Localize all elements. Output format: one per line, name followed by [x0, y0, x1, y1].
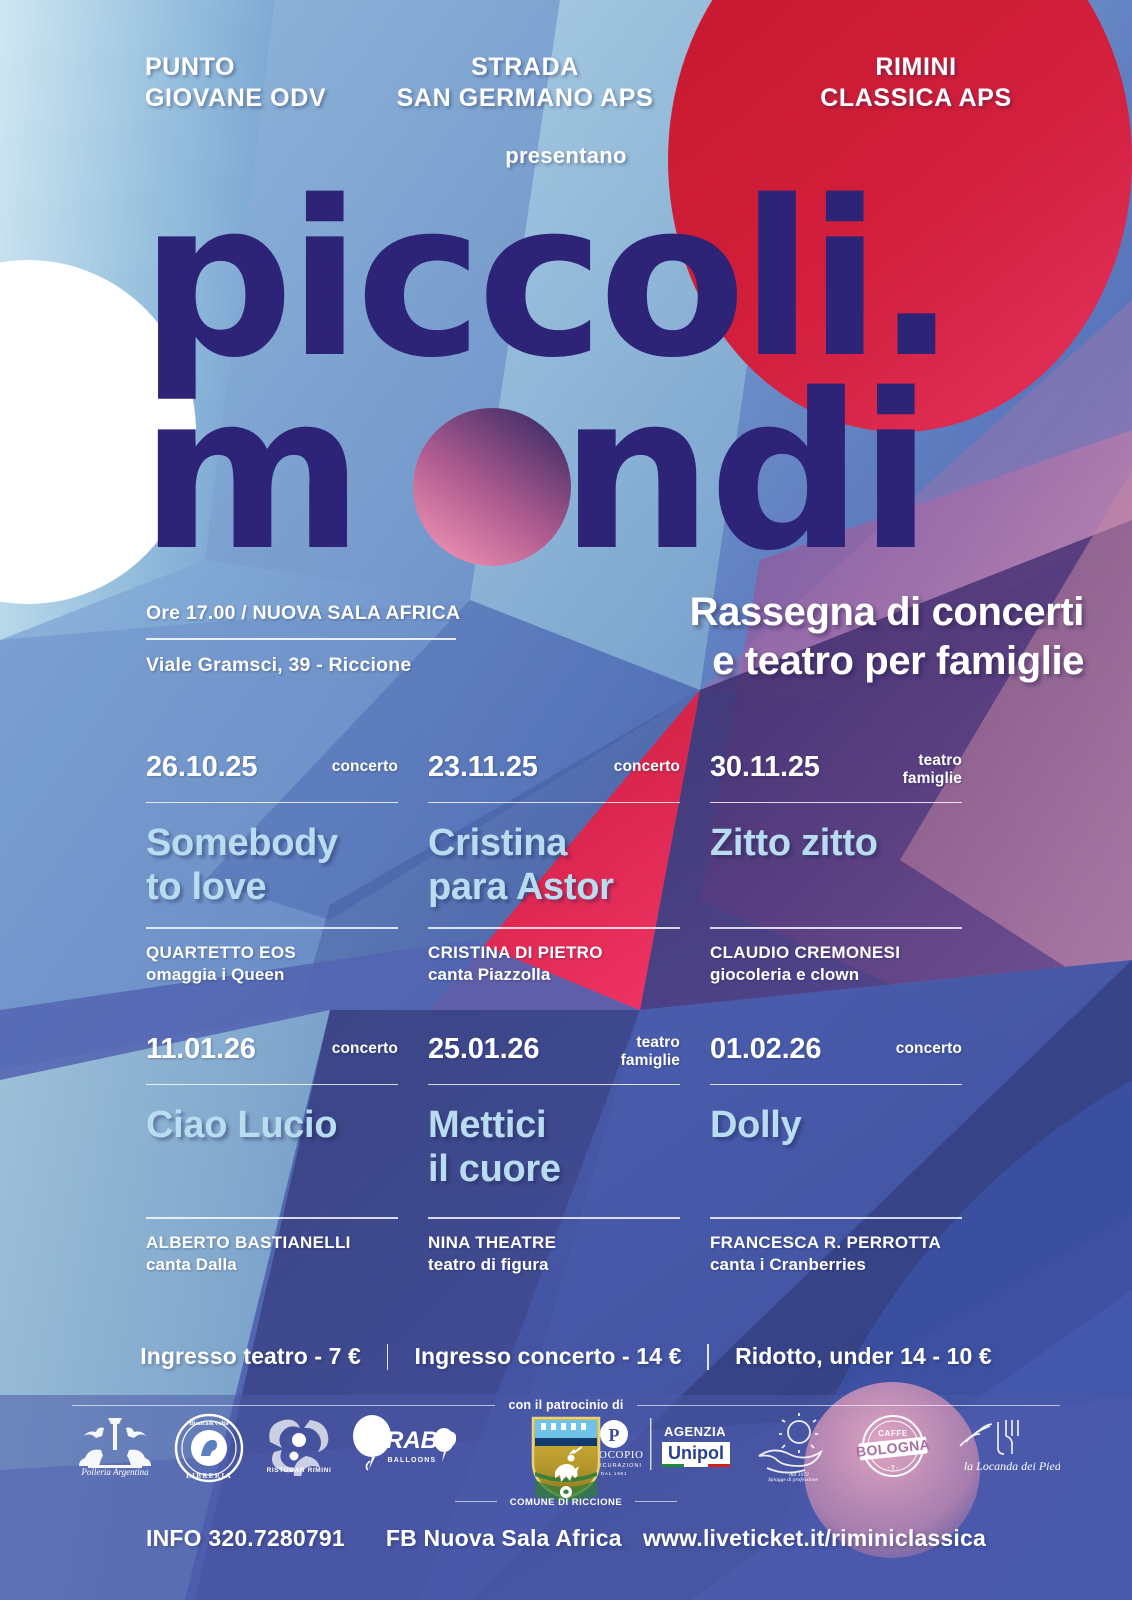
patronage-line-right: [637, 1405, 1060, 1406]
event-title-line2: to love: [146, 865, 398, 909]
event-detail: canta Dalla: [146, 1254, 398, 1276]
event-kind: concerto: [614, 752, 680, 776]
organizer-1-line2: GIOVANE ODV: [145, 83, 330, 114]
event-detail: canta i Cranberries: [710, 1254, 962, 1276]
event-performer: CLAUDIO CREMONESI: [710, 942, 962, 964]
circular-badge-icon: Bianca&Volta LIBRERIA: [173, 1412, 245, 1484]
sponsor-spiagge-di-professione[interactable]: dal 1972 Spiagge di professione: [749, 1412, 835, 1504]
footer-row: INFO 320.7280791 FB Nuova Sala Africa ww…: [0, 1525, 1132, 1552]
sponsor-ristobar-rimini[interactable]: RISTOBAR RIMINI: [260, 1412, 338, 1504]
event-date: 30.11.25: [710, 752, 820, 782]
price-concert: Ingresso concerto - 14 €: [414, 1343, 681, 1370]
event-divider-top: [428, 802, 680, 803]
event-card[interactable]: 30.11.25 teatro famiglie Zitto zitto CLA…: [710, 752, 962, 986]
svg-text:Unipol: Unipol: [668, 1443, 724, 1463]
event-divider-bottom: [428, 927, 680, 928]
event-date: 01.02.26: [710, 1034, 821, 1064]
event-kind-line1: teatro: [621, 1034, 680, 1052]
event-performer: ALBERTO BASTIANELLI: [146, 1232, 398, 1254]
organizer-2-line1: STRADA: [330, 52, 720, 83]
event-divider-bottom: [146, 927, 398, 928]
organizer-2: STRADA SAN GERMANO APS: [330, 52, 720, 113]
footer-facebook[interactable]: FB Nuova Sala Africa: [386, 1525, 643, 1552]
venue-divider: [146, 638, 456, 640]
organizers-row: PUNTO GIOVANE ODV STRADA SAN GERMANO APS…: [0, 52, 1132, 113]
event-divider-top: [710, 1084, 962, 1085]
event-divider-top: [146, 1084, 398, 1085]
event-kind: concerto: [332, 752, 398, 776]
event-performer: NINA THEATRE: [428, 1232, 680, 1254]
event-title-line2: para Astor: [428, 865, 680, 909]
event-kind-line1: concerto: [332, 1040, 398, 1058]
event-header: 11.01.26 concerto: [146, 1034, 398, 1080]
comune-riccione-crest-icon: [529, 1414, 603, 1502]
organizer-3-line2: CLASSICA APS: [720, 83, 1112, 114]
event-performer: CRISTINA DI PIETRO: [428, 942, 680, 964]
event-kind-line2: famiglie: [621, 1052, 680, 1070]
event-kind-line2: famiglie: [903, 770, 962, 788]
venue-block: Ore 17.00 / NUOVA SALA AFRICA Viale Gram…: [146, 602, 476, 677]
event-card[interactable]: 11.01.26 concerto Ciao Lucio ALBERTO BAS…: [146, 1034, 398, 1276]
event-performer-block: CRISTINA DI PIETRO canta Piazzolla: [428, 942, 680, 986]
event-header: 30.11.25 teatro famiglie: [710, 752, 962, 798]
patronage-line-left: [72, 1405, 495, 1406]
event-performer-block: FRANCESCA R. PERROTTA canta i Cranberrie…: [710, 1232, 962, 1276]
svg-text:RISTOBAR RIMINI: RISTOBAR RIMINI: [266, 1467, 331, 1474]
event-kind: teatro famiglie: [621, 1034, 680, 1071]
event-title: Dolly: [710, 1103, 962, 1207]
event-card[interactable]: 01.02.26 concerto Dolly FRANCESCA R. PER…: [710, 1034, 962, 1276]
event-performer: QUARTETTO EOS: [146, 942, 398, 964]
sponsor-procopio-unipol[interactable]: P PROCOPIO ASSICURAZIONI DAL 1961 AGENZI…: [582, 1412, 734, 1504]
organizer-1-line1: PUNTO: [145, 52, 330, 83]
event-detail: teatro di figura: [428, 1254, 680, 1276]
fork-wheat-icon: la Locanda dei Piedi: [952, 1412, 1060, 1478]
event-title: Somebody to love: [146, 821, 398, 917]
event-detail: omaggia i Queen: [146, 964, 398, 986]
event-title-line1: Mettici: [428, 1103, 680, 1147]
event-card[interactable]: 26.10.25 concerto Somebody to love QUART…: [146, 752, 398, 986]
event-divider-top: [146, 802, 398, 803]
event-detail: giocoleria e clown: [710, 964, 962, 986]
event-date: 23.11.25: [428, 752, 538, 782]
event-title: Mettici il cuore: [428, 1103, 680, 1207]
event-kind: teatro famiglie: [903, 752, 962, 789]
sponsor-polleria-argentina[interactable]: Polleria Argentina: [72, 1412, 158, 1504]
event-title-line1: Cristina: [428, 821, 680, 865]
event-performer: FRANCESCA R. PERROTTA: [710, 1232, 962, 1254]
event-performer-block: ALBERTO BASTIANELLI canta Dalla: [146, 1232, 398, 1276]
organizer-2-line2: SAN GERMANO APS: [330, 83, 720, 114]
sun-wave-icon: dal 1972 Spiagge di professione: [749, 1412, 835, 1482]
events-grid: 26.10.25 concerto Somebody to love QUART…: [146, 752, 992, 1276]
event-kind-line1: concerto: [614, 758, 680, 776]
event-performer-block: CLAUDIO CREMONESI giocoleria e clown: [710, 942, 962, 986]
event-kind-line1: teatro: [903, 752, 962, 770]
coffee-badge-icon: CAFFE BOLOGNA - T -: [849, 1412, 937, 1482]
svg-text:DAL 1961: DAL 1961: [601, 1471, 627, 1476]
organizer-1: PUNTO GIOVANE ODV: [0, 52, 330, 113]
event-divider-top: [428, 1084, 680, 1085]
patronage-label: con il patrocinio di: [495, 1398, 636, 1412]
swirl-icon: RISTOBAR RIMINI: [260, 1412, 338, 1476]
price-theatre: Ingresso teatro - 7 €: [140, 1343, 361, 1370]
prices-row: Ingresso teatro - 7 € Ingresso concerto …: [0, 1343, 1132, 1370]
price-reduced: Ridotto, under 14 - 10 €: [735, 1343, 992, 1370]
sponsor-grabo-balloons[interactable]: RABO BALLOONS: [352, 1412, 456, 1504]
event-header: 26.10.25 concerto: [146, 752, 398, 798]
footer-website[interactable]: www.liveticket.it/riminiclassica: [643, 1525, 986, 1552]
svg-text:Polleria Argentina: Polleria Argentina: [80, 1467, 149, 1477]
poster-root: PUNTO GIOVANE ODV STRADA SAN GERMANO APS…: [0, 0, 1132, 1600]
event-title: Cristina para Astor: [428, 821, 680, 917]
svg-text:AGENZIA: AGENZIA: [664, 1424, 726, 1439]
svg-text:LIBRERIA: LIBRERIA: [186, 1472, 232, 1480]
rooster-crest-icon: Polleria Argentina: [72, 1412, 158, 1478]
svg-text:BALLOONS: BALLOONS: [388, 1457, 437, 1464]
event-divider-bottom: [710, 1217, 962, 1218]
sponsor-caffe-bologna[interactable]: CAFFE BOLOGNA - T -: [849, 1412, 937, 1504]
event-title-line1: Somebody: [146, 821, 398, 865]
event-title-line1: Dolly: [710, 1103, 962, 1147]
event-performer-block: QUARTETTO EOS omaggia i Queen: [146, 942, 398, 986]
event-detail: canta Piazzolla: [428, 964, 680, 986]
event-divider-bottom: [428, 1217, 680, 1218]
svg-text:Bianca&Volta: Bianca&Volta: [189, 1420, 229, 1427]
insurance-icon: P PROCOPIO ASSICURAZIONI DAL 1961 AGENZI…: [582, 1412, 734, 1482]
svg-text:- T -: - T -: [888, 1466, 899, 1472]
event-date: 11.01.26: [146, 1034, 256, 1064]
comune-rule-right: [635, 1501, 677, 1502]
event-title-line1: Ciao Lucio: [146, 1103, 398, 1147]
svg-text:Spiagge di professione: Spiagge di professione: [768, 1476, 818, 1482]
event-title-line1: Zitto zitto: [710, 821, 962, 865]
tagline-line-2: e teatro per famiglie: [690, 637, 1084, 686]
comune-caption: COMUNE DI RICCIONE: [0, 1497, 1132, 1508]
venue-address: Viale Gramsci, 39 - Riccione: [146, 654, 476, 677]
event-date: 26.10.25: [146, 752, 257, 782]
poster-tagline: Rassegna di concerti e teatro per famigl…: [690, 588, 1084, 686]
svg-text:P: P: [608, 1425, 619, 1445]
event-card[interactable]: 25.01.26 teatro famiglie Mettici il cuor…: [428, 1034, 680, 1276]
event-divider-bottom: [146, 1217, 398, 1218]
svg-text:CAFFE: CAFFE: [878, 1429, 908, 1438]
event-header: 25.01.26 teatro famiglie: [428, 1034, 680, 1080]
price-separator: [707, 1344, 709, 1370]
event-header: 01.02.26 concerto: [710, 1034, 962, 1080]
event-title: Zitto zitto: [710, 821, 962, 917]
sponsor-bianca-volta-libreria[interactable]: Bianca&Volta LIBRERIA: [173, 1412, 245, 1504]
patronage-rule: con il patrocinio di: [0, 1398, 1132, 1412]
presentano-label: presentano: [0, 143, 1132, 169]
balloon-icon: RABO BALLOONS: [352, 1412, 456, 1474]
event-performer-block: NINA THEATRE teatro di figura: [428, 1232, 680, 1276]
event-kind-line1: concerto: [332, 758, 398, 776]
event-divider-bottom: [710, 927, 962, 928]
sponsor-la-locanda-dei-piedi[interactable]: la Locanda dei Piedi: [952, 1412, 1060, 1504]
event-kind-line1: concerto: [896, 1040, 962, 1058]
tagline-line-1: Rassegna di concerti: [690, 588, 1084, 637]
organizer-3-line1: RIMINI: [720, 52, 1112, 83]
event-divider-top: [710, 802, 962, 803]
event-kind: concerto: [896, 1034, 962, 1058]
event-title-line2: il cuore: [428, 1147, 680, 1191]
svg-text:la Locanda dei Piedi: la Locanda dei Piedi: [964, 1459, 1060, 1473]
venue-time-hall: Ore 17.00 / NUOVA SALA AFRICA: [146, 602, 476, 625]
event-header: 23.11.25 concerto: [428, 752, 680, 798]
event-title: Ciao Lucio: [146, 1103, 398, 1207]
event-date: 25.01.26: [428, 1034, 539, 1064]
price-separator: [387, 1344, 389, 1370]
event-card[interactable]: 23.11.25 concerto Cristina para Astor CR…: [428, 752, 680, 986]
organizer-3: RIMINI CLASSICA APS: [720, 52, 1132, 113]
event-kind: concerto: [332, 1034, 398, 1058]
footer-info: INFO 320.7280791: [146, 1525, 386, 1552]
